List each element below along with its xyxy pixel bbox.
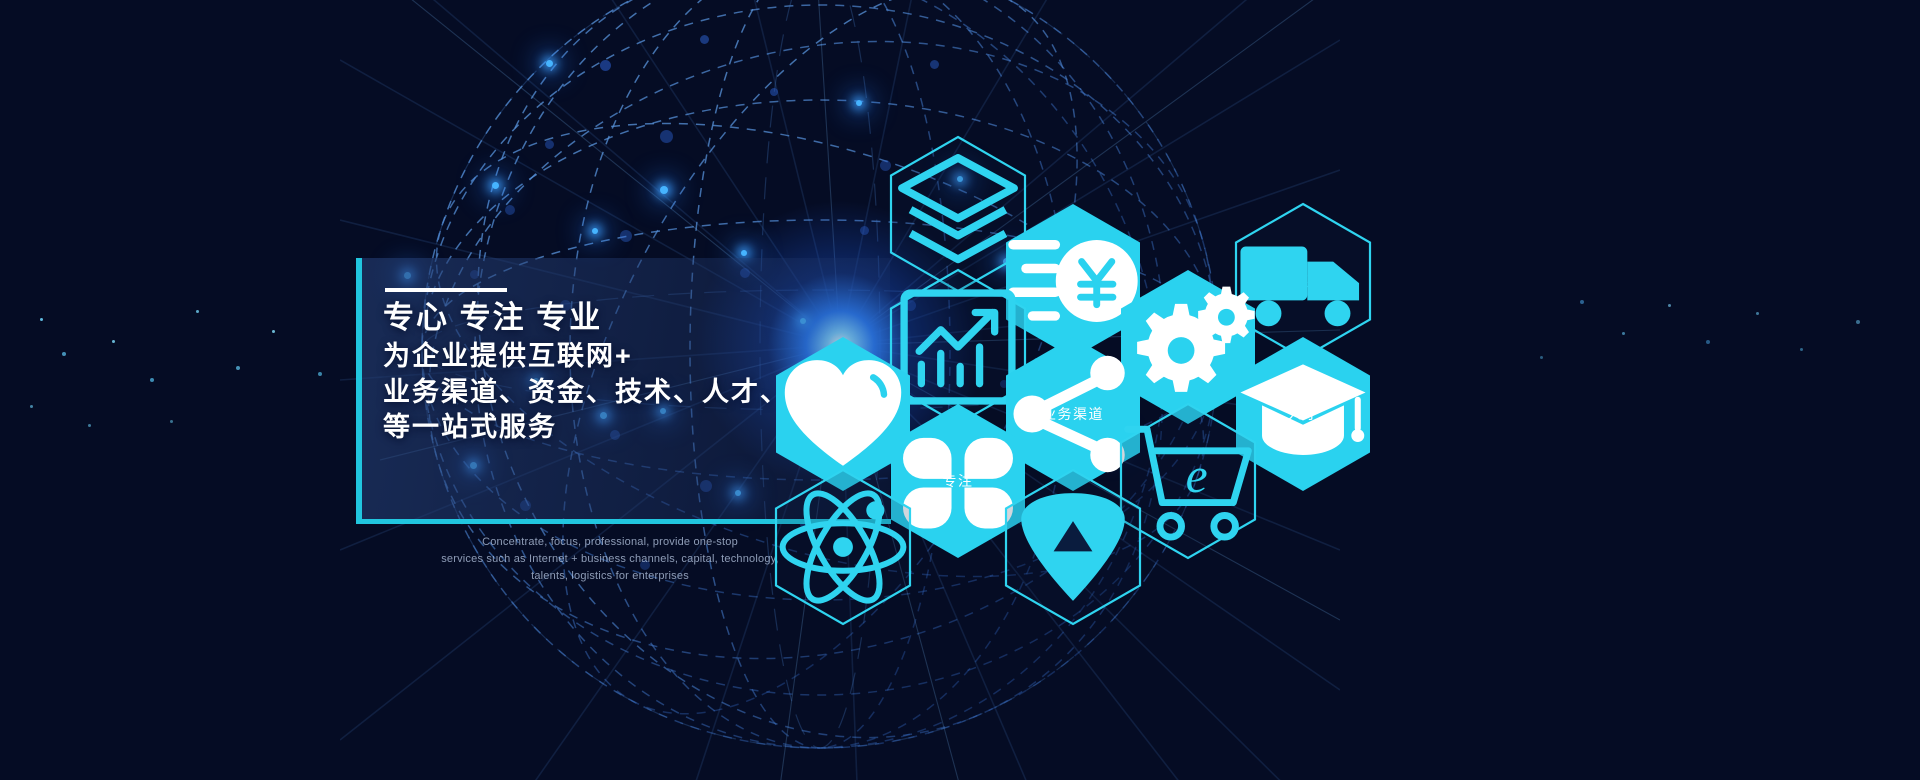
headline-line-1: 专心 专注 专业 — [383, 298, 913, 339]
headline-line-4: 等一站式服务 — [383, 410, 913, 446]
headline-line-2: 为企业提供互联网+ — [383, 339, 913, 375]
subcopy-line-1: Concentrate, focus, professional, provid… — [420, 534, 800, 551]
title-rule — [385, 288, 507, 292]
hero-banner: 专心 专注 专业 为企业提供互联网+ 业务渠道、资金、技术、人才、物流 等一站式… — [0, 0, 1920, 780]
subcopy-line-2: services such as Internet + business cha… — [420, 551, 800, 568]
hero-headline: 专心 专注 专业 为企业提供互联网+ 业务渠道、资金、技术、人才、物流 等一站式… — [383, 298, 913, 446]
subcopy-line-3: talents, logistics for enterprises — [420, 568, 800, 585]
headline-line-3: 业务渠道、资金、技术、人才、物流 — [383, 375, 913, 411]
hero-subcopy: Concentrate, focus, professional, provid… — [420, 534, 800, 585]
